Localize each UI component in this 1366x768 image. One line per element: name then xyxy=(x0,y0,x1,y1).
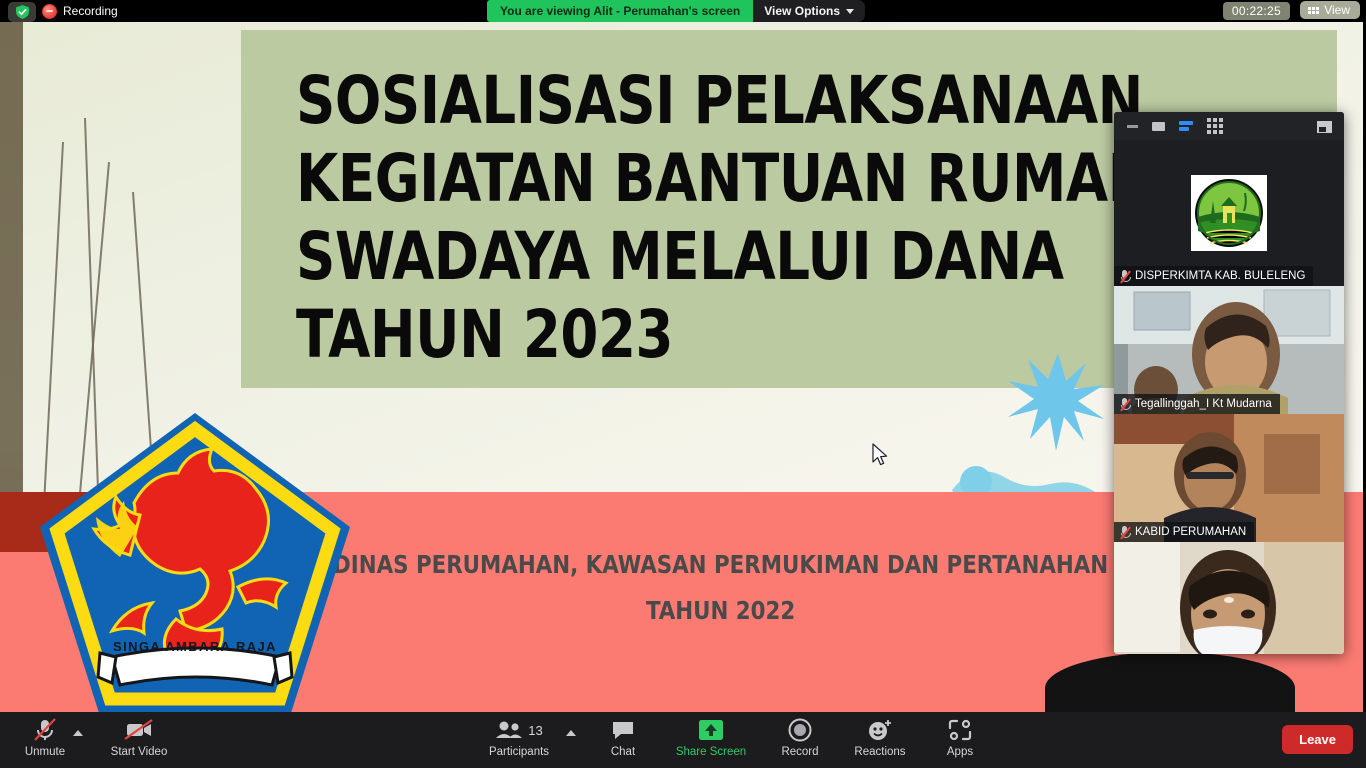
view-options-button[interactable]: View Options xyxy=(753,0,865,22)
sharing-banner: You are viewing Alit - Perumahan's scree… xyxy=(487,0,865,22)
participant-name-badge: KABID PERUMAHAN xyxy=(1114,522,1254,542)
participant-name: Tegallinggah_I Kt Mudarna xyxy=(1135,398,1272,410)
participant-name-badge: DISPERKIMTA KAB. BULELENG xyxy=(1114,266,1313,286)
apps-button[interactable]: Apps xyxy=(921,718,999,764)
participants-count: 13 xyxy=(528,723,542,738)
popout-icon[interactable] xyxy=(1317,121,1332,133)
security-shield-icon[interactable] xyxy=(8,2,36,22)
mute-button[interactable]: Unmute xyxy=(6,718,84,764)
meeting-timer: 00:22:25 xyxy=(1223,2,1290,20)
slide-title: SOSIALISASI PELAKSANAAN KEGIATAN BANTUAN… xyxy=(296,62,1198,374)
microphone-muted-icon xyxy=(1119,397,1130,411)
view-options-label: View Options xyxy=(764,4,840,18)
zoom-meeting-window: SOSIALISASI PELAKSANAAN KEGIATAN BANTUAN… xyxy=(0,0,1366,768)
recording-label: Recording xyxy=(63,4,118,18)
participant-name: DISPERKIMTA KAB. BULELENG xyxy=(1135,270,1305,282)
participant-name: KABID PERUMAHAN xyxy=(1135,526,1246,538)
video-tile[interactable]: Tegallinggah_I Kt Mudarna xyxy=(1114,286,1344,414)
reactions-smiley-icon xyxy=(867,718,893,742)
share-screen-icon xyxy=(696,718,726,742)
share-screen-button-label: Share Screen xyxy=(676,746,746,759)
view-button-label: View xyxy=(1324,3,1350,17)
video-panel-header xyxy=(1114,112,1344,140)
view-layout-button[interactable]: View xyxy=(1300,1,1360,19)
chat-button-label: Chat xyxy=(611,746,635,759)
video-tile-list: DISPERKIMTA KAB. BULELENG xyxy=(1114,140,1344,654)
microphone-muted-icon xyxy=(1119,269,1130,283)
record-button[interactable]: Record xyxy=(761,718,839,764)
disperkimta-logo-icon xyxy=(1193,177,1265,249)
reactions-button[interactable]: Reactions xyxy=(841,718,919,764)
reactions-button-label: Reactions xyxy=(854,746,905,759)
participants-options-caret-icon[interactable] xyxy=(566,730,576,736)
video-thumbnail-panel[interactable]: DISPERKIMTA KAB. BULELENG xyxy=(1114,112,1344,654)
single-view-icon[interactable] xyxy=(1152,122,1165,131)
meeting-toolbar: Unmute Start Video 13 xyxy=(0,712,1366,768)
top-overlay-bar: Recording You are viewing Alit - Perumah… xyxy=(0,0,1366,22)
leave-button[interactable]: Leave xyxy=(1282,725,1353,754)
share-screen-button[interactable]: Share Screen xyxy=(672,718,750,764)
buleleng-emblem: SINGA AMBARA RAJA xyxy=(34,407,356,712)
microphone-muted-icon xyxy=(32,718,58,742)
participant-name-badge: Tegallinggah_I Kt Mudarna xyxy=(1114,394,1280,414)
start-video-button[interactable]: Start Video xyxy=(100,718,178,764)
sharing-message: You are viewing Alit - Perumahan's scree… xyxy=(487,0,753,22)
apps-icon xyxy=(948,718,972,742)
video-tile[interactable]: Perkimta - Widnyana xyxy=(1114,542,1344,654)
record-circle-icon xyxy=(788,718,812,742)
participant-video-feed xyxy=(1114,542,1344,654)
start-video-button-label: Start Video xyxy=(111,746,168,759)
chevron-down-icon xyxy=(846,9,854,14)
participants-button[interactable]: 13 Participants xyxy=(480,718,558,764)
video-tile[interactable]: KABID PERUMAHAN xyxy=(1114,414,1344,542)
record-button-label: Record xyxy=(781,746,818,759)
video-tile[interactable]: DISPERKIMTA KAB. BULELENG xyxy=(1114,140,1344,286)
emblem-motto: SINGA AMBARA RAJA xyxy=(34,639,356,654)
camera-off-icon xyxy=(124,718,154,742)
audio-options-caret-icon[interactable] xyxy=(73,730,83,736)
speaker-view-icon[interactable] xyxy=(1179,121,1193,131)
apps-button-label: Apps xyxy=(947,746,973,759)
recording-indicator[interactable]: Recording xyxy=(42,0,118,22)
mute-button-label: Unmute xyxy=(25,746,65,759)
gallery-grid-icon xyxy=(1308,7,1319,14)
participant-logo-avatar xyxy=(1191,175,1267,251)
record-dot-icon xyxy=(42,4,57,19)
participants-icon: 13 xyxy=(495,718,542,742)
minimize-icon[interactable] xyxy=(1127,125,1138,128)
slide-subtitle: DINAS PERUMAHAN, KAWASAN PERMUKIMAN DAN … xyxy=(210,542,1231,634)
microphone-muted-icon xyxy=(1119,525,1130,539)
chat-bubble-icon xyxy=(611,718,635,742)
mouse-cursor xyxy=(872,443,890,469)
chat-button[interactable]: Chat xyxy=(584,718,662,764)
participants-button-label: Participants xyxy=(489,746,549,759)
gallery-view-icon[interactable] xyxy=(1207,118,1223,134)
